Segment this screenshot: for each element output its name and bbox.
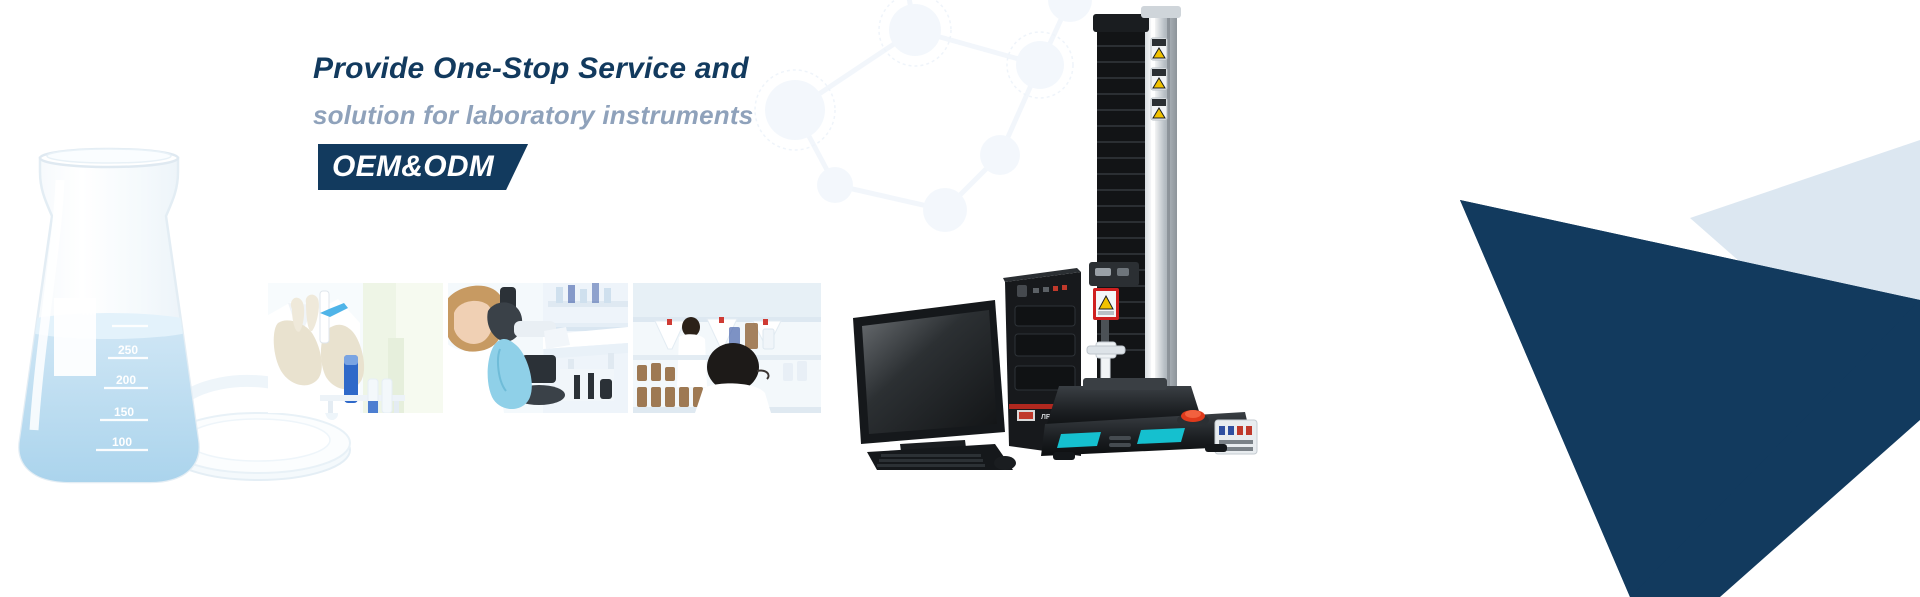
- universal-tensile-testing-machine: [1041, 6, 1257, 460]
- headline-block: Provide One-Stop Service and solution fo…: [313, 54, 933, 190]
- flask-grad-200: 200: [116, 373, 136, 387]
- light-blue-arrow-shape: [1690, 140, 1920, 420]
- banner-root: ml 250 200 150 100 Provide One-Stop Serv…: [0, 0, 1920, 597]
- badge-row: OEM&ODM: [318, 144, 933, 190]
- headline-line-1: Provide One-Stop Service and: [313, 54, 933, 84]
- oem-odm-badge[interactable]: OEM&ODM: [318, 144, 528, 190]
- photo-strip: [268, 283, 821, 413]
- warning-sticker-3: [1151, 98, 1167, 120]
- computer-keyboard: [867, 444, 1013, 470]
- headline-line-2: solution for laboratory instruments: [313, 102, 933, 128]
- computer-mouse: [994, 456, 1016, 470]
- warning-sticker-1: [1151, 38, 1167, 60]
- erlenmeyer-flask: ml 250 200 150 100: [0, 149, 220, 490]
- lcd-monitor: [853, 300, 1005, 464]
- photo-microscope[interactable]: [448, 283, 628, 413]
- photo-lab-bench[interactable]: [633, 283, 821, 413]
- warning-sticker-4: [1093, 288, 1119, 320]
- equipment-group: ЛRUЛS: [845, 0, 1315, 470]
- flask-grad-100: 100: [112, 435, 132, 449]
- photo-pipetting[interactable]: [268, 283, 443, 413]
- navy-arrow-shape: [1460, 200, 1920, 597]
- warning-sticker-2: [1151, 68, 1167, 90]
- flask-grad-250: 250: [118, 343, 138, 357]
- flask-grad-150: 150: [114, 405, 134, 419]
- navy-arrow-tail: [1460, 200, 1920, 597]
